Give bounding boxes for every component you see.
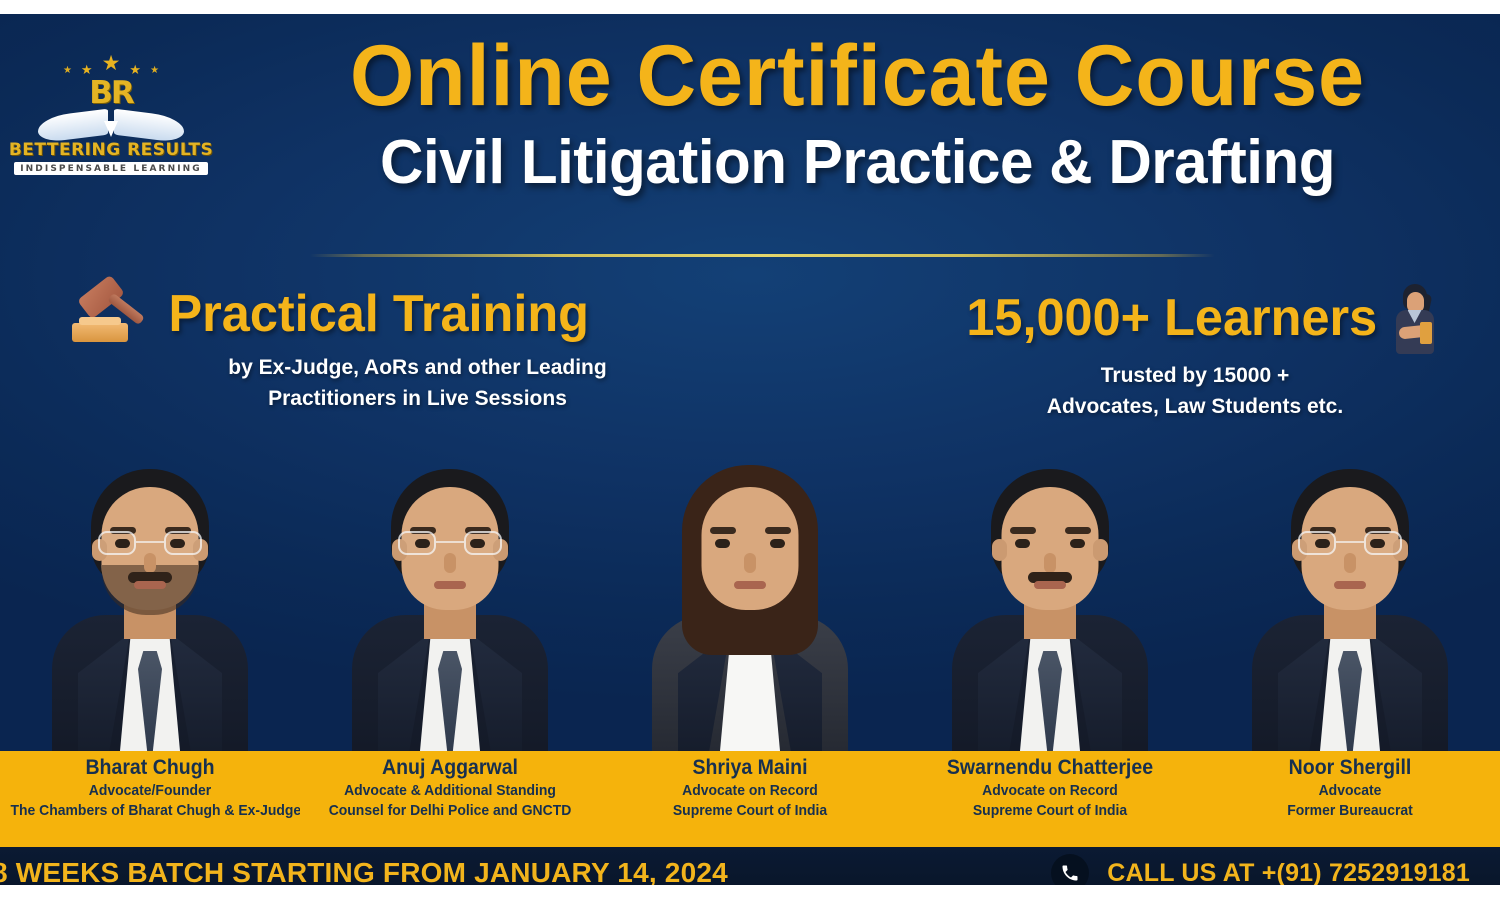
gavel-icon [70,282,148,346]
speaker-name: Anuj Aggarwal [311,754,590,781]
speaker-name: Shriya Maini [611,754,890,781]
avatar [650,461,850,751]
banner-canvas: ★ ★ ★ ★ ★ BR BETTERING RESULTS INDISPENS… [0,14,1500,885]
speaker-names-bar: Bharat Chugh Advocate/Founder The Chambe… [0,751,1500,847]
speaker-photo [600,454,900,751]
feature-title: Practical Training [169,283,589,345]
feature-subtitle: by Ex-Judge, AoRs and other Leading Prac… [125,352,710,414]
logo-initials: BR [89,78,133,109]
gold-divider [310,254,1215,257]
footer-bar: 8 WEEKS BATCH STARTING FROM JANUARY 14, … [0,847,1500,885]
speaker-role-line2: The Chambers of Bharat Chugh & Ex-Judge [11,801,290,821]
speaker-caption: Shriya Maini Advocate on Record Supreme … [600,751,900,847]
avatar [50,461,250,751]
speaker-photo [900,454,1200,751]
batch-start-text: 8 WEEKS BATCH STARTING FROM JANUARY 14, … [0,847,728,885]
speaker-caption: Swarnendu Chatterjee Advocate on Record … [900,751,1200,847]
brand-logo[interactable]: ★ ★ ★ ★ ★ BR BETTERING RESULTS INDISPENS… [18,54,204,179]
speaker-role-line2: Former Bureaucrat [1211,801,1490,821]
headline-block: Online Certificate Course Civil Litigati… [215,28,1500,202]
course-name-title: Civil Litigation Practice & Drafting [234,124,1480,202]
feature-subtitle-line2: Practitioners in Live Sessions [125,383,710,414]
avatar [1250,461,1450,751]
avatar [950,461,1150,751]
open-book-icon [36,107,186,141]
speaker-role-line1: Advocate & Additional Standing [311,781,590,801]
speaker-role-line1: Advocate [1211,781,1490,801]
star-icon: ★ [102,53,121,74]
feature-practical-training: Practical Training by Ex-Judge, AoRs and… [70,282,670,414]
speaker-caption: Anuj Aggarwal Advocate & Additional Stan… [300,751,600,847]
top-white-strip [0,0,1500,14]
logo-stars: ★ ★ ★ ★ ★ [63,54,159,76]
speaker-photo [0,454,300,751]
phone-icon[interactable] [1051,854,1089,885]
speaker-photo [1200,454,1500,751]
speaker-caption: Bharat Chugh Advocate/Founder The Chambe… [0,751,300,847]
logo-tagline: INDISPENSABLE LEARNING [14,162,208,175]
speaker-role-line1: Advocate on Record [611,781,890,801]
avatar [350,461,550,751]
feature-subtitle: Trusted by 15000 + Advocates, Law Studen… [960,360,1430,422]
speaker-photo-row [0,454,1500,751]
call-us-text[interactable]: CALL US AT +(91) 7252919181 [1107,859,1470,886]
feature-subtitle-line1: by Ex-Judge, AoRs and other Leading [125,352,710,383]
feature-learners: 15,000+ Learners Trusted by 15000 + Advo… [960,282,1450,422]
feature-subtitle-line1: Trusted by 15000 + [960,360,1430,391]
promotional-banner: ★ ★ ★ ★ ★ BR BETTERING RESULTS INDISPENS… [0,0,1500,900]
logo-brand-name: BETTERING RESULTS [9,142,213,159]
speaker-role-line1: Advocate on Record [911,781,1190,801]
star-icon: ★ [63,66,72,76]
learner-icon [1390,282,1440,354]
speaker-role-line2: Counsel for Delhi Police and GNCTD [311,801,590,821]
speaker-role-line2: Supreme Court of India [911,801,1190,821]
feature-subtitle-line2: Advocates, Law Students etc. [960,391,1430,422]
contact-block[interactable]: CALL US AT +(91) 7252919181 [1051,847,1470,885]
speaker-caption: Noor Shergill Advocate Former Bureaucrat [1200,751,1500,847]
bottom-white-strip [0,885,1500,900]
speaker-role-line1: Advocate/Founder [11,781,290,801]
speaker-role-line2: Supreme Court of India [611,801,890,821]
speaker-name: Bharat Chugh [11,754,290,781]
speaker-name: Swarnendu Chatterjee [911,754,1190,781]
speaker-photo [300,454,600,751]
speaker-name: Noor Shergill [1211,754,1490,781]
feature-title: 15,000+ Learners [966,287,1377,349]
course-type-title: Online Certificate Course [241,28,1475,124]
star-icon: ★ [150,66,159,76]
